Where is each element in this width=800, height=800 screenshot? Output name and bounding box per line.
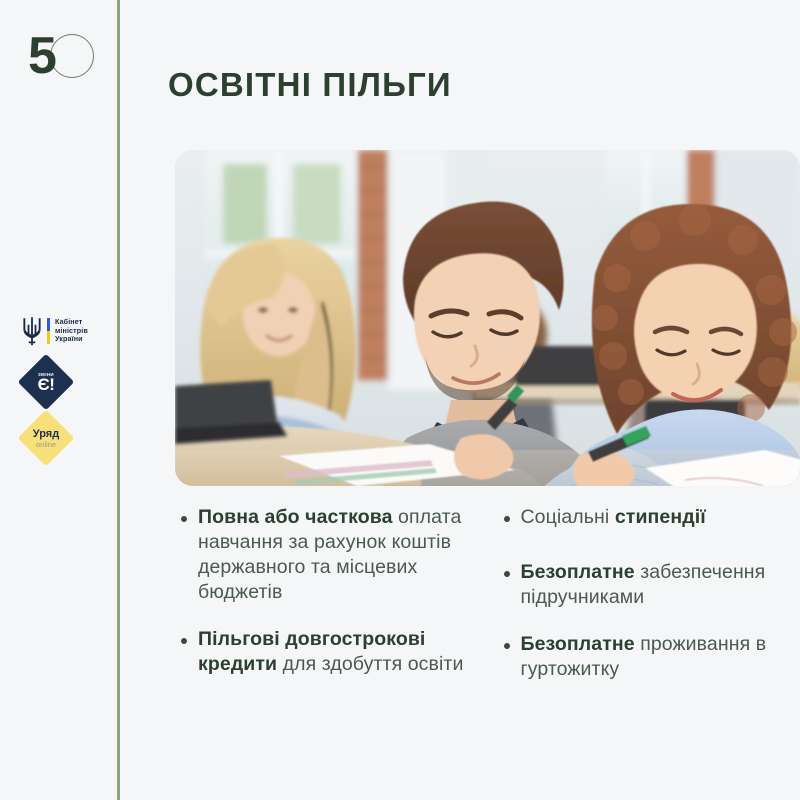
badge-circle-outline — [50, 34, 94, 78]
bullet-dot-icon — [181, 516, 187, 522]
benefits-list: Повна або часткова оплата навчання за ра… — [175, 505, 800, 755]
list-item: Безоплатне проживання в гуртожитку — [498, 632, 800, 682]
bullet-text: Пільгові довгострокові кредити для здобу… — [198, 627, 478, 677]
zminye-logo: ЗМІНИ Є! — [18, 354, 74, 410]
list-item: Повна або часткова оплата навчання за ра… — [175, 505, 478, 605]
uryad-small-label: online — [36, 440, 56, 449]
logo-stack: Кабінет міністрів України ЗМІНИ Є! Уряд … — [0, 308, 118, 466]
main-content: ОСВІТНІ ПІЛЬГИ — [118, 0, 800, 800]
bullet-dot-icon — [181, 638, 187, 644]
flag-bar — [47, 318, 50, 344]
bullet-text: Повна або часткова оплата навчання за ра… — [198, 505, 478, 605]
uryad-big-label: Уряд — [33, 428, 59, 440]
benefits-column-left: Повна або часткова оплата навчання за ра… — [175, 505, 478, 755]
uryad-online-logo: Уряд online — [18, 410, 74, 466]
bullet-bold-part: Безоплатне — [521, 561, 635, 583]
benefits-column-right: Соціальні стипендії Безоплатне забезпече… — [498, 505, 800, 755]
classroom-photo — [175, 150, 800, 486]
bullet-rest-part: для здобуття освіти — [277, 653, 463, 675]
uryad-logo-content: Уряд online — [18, 410, 74, 466]
list-item: Пільгові довгострокові кредити для здобу… — [175, 627, 478, 677]
bullet-bold-part: Повна або часткова — [198, 506, 393, 528]
zminye-big-label: Є! — [38, 377, 55, 393]
bullet-dot-icon — [504, 643, 510, 649]
bullet-text: Безоплатне проживання в гуртожитку — [521, 632, 800, 682]
ukraine-trident-icon — [22, 316, 42, 346]
slide-number: 5 — [28, 21, 56, 91]
bullet-dot-icon — [504, 516, 510, 522]
page-title: ОСВІТНІ ПІЛЬГИ — [168, 66, 452, 104]
bullet-bold-part: стипендії — [615, 506, 706, 528]
bullet-bold-part: Безоплатне — [521, 633, 635, 655]
bullet-text: Соціальні стипендії — [521, 505, 706, 530]
cabinet-logo-label: Кабінет міністрів України — [55, 318, 88, 344]
bullet-lead-part: Соціальні — [521, 506, 615, 528]
bullet-dot-icon — [504, 571, 510, 577]
slide-number-badge: 5 — [28, 27, 98, 87]
list-item: Безоплатне забезпечення підручниками — [498, 560, 800, 610]
bullet-text: Безоплатне забезпечення підручниками — [521, 560, 800, 610]
list-item: Соціальні стипендії — [498, 505, 800, 530]
zminye-logo-content: ЗМІНИ Є! — [18, 354, 74, 410]
left-sidebar: 5 Кабінет міністрів України ЗМІНИ Є! Уря… — [0, 0, 118, 800]
classroom-photo-image — [175, 150, 800, 486]
cabinet-of-ministers-logo: Кабінет міністрів України — [22, 308, 118, 354]
